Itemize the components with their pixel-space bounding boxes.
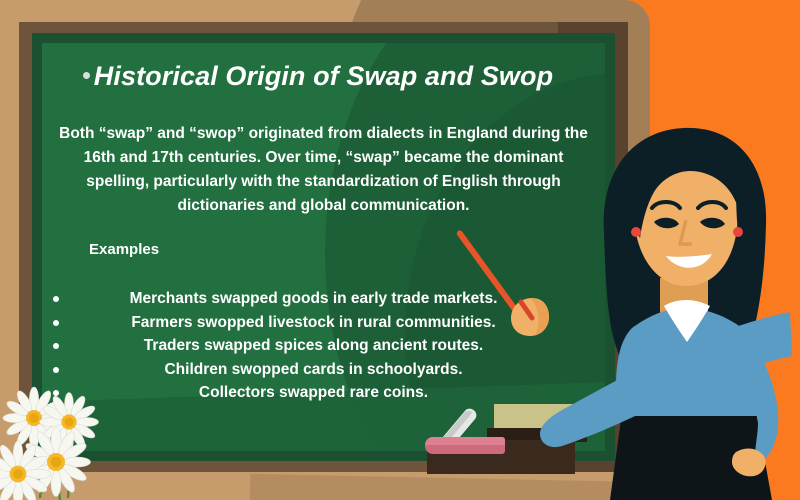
list-item-label: Farmers swopped livestock in rural commu…: [42, 312, 585, 334]
hand-holding-pointer: [505, 296, 549, 338]
daisy-flowers-icon: [0, 380, 186, 500]
list-item: Children swopped cards in schoolyards.: [42, 359, 605, 383]
list-item-label: Traders swapped spices along ancient rou…: [42, 335, 585, 357]
arm-left-group: [540, 280, 800, 500]
list-item-label: Children swopped cards in schoolyards.: [42, 359, 585, 381]
examples-heading: Examples: [89, 241, 159, 258]
eraser-highlight: [425, 437, 505, 445]
earring-right: [733, 227, 743, 237]
list-item: Traders swapped spices along ancient rou…: [42, 335, 605, 359]
slide-canvas: Historical Origin of Swap and Swop Both …: [0, 0, 800, 500]
page-title: Historical Origin of Swap and Swop: [42, 61, 605, 92]
arm-left: [540, 312, 792, 447]
body-paragraph: Both “swap” and “swop” originated from d…: [52, 122, 595, 218]
earring-left: [631, 227, 641, 237]
